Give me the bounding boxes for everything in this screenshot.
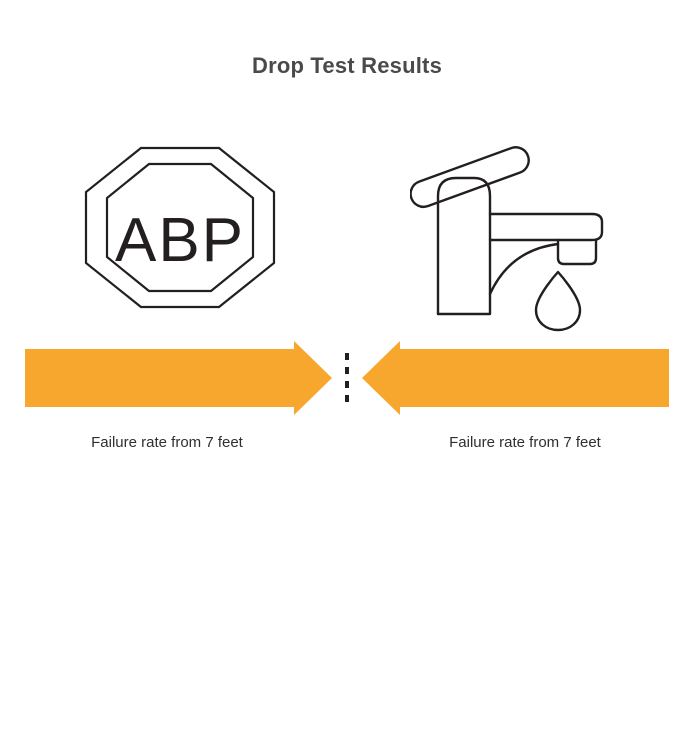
dashed-vertical-divider [345,352,349,404]
left-value-label: 0% [193,705,223,728]
octagon-icon-label: ABP [115,206,245,275]
right-arrow-label: 60%WaterBrick [476,700,658,734]
right-value-label: 60% [476,705,518,728]
faucet-drip-icon [410,118,650,336]
left-brand-label: AquaBrick [58,705,163,728]
left-arrow-shape [25,341,332,415]
right-arrow-shape [362,341,669,415]
right-brand-label: WaterBrick [548,705,658,728]
left-caption: Failure rate from 7 feet [22,432,312,454]
drop-test-results-infographic: Drop Test Results ABP [0,0,694,526]
page-title: Drop Test Results [0,52,694,80]
left-arrow-label: AquaBrick0% [58,700,223,734]
octagon-abp-logo-icon: ABP [62,118,298,336]
right-caption: Failure rate from 7 feet [380,432,670,454]
